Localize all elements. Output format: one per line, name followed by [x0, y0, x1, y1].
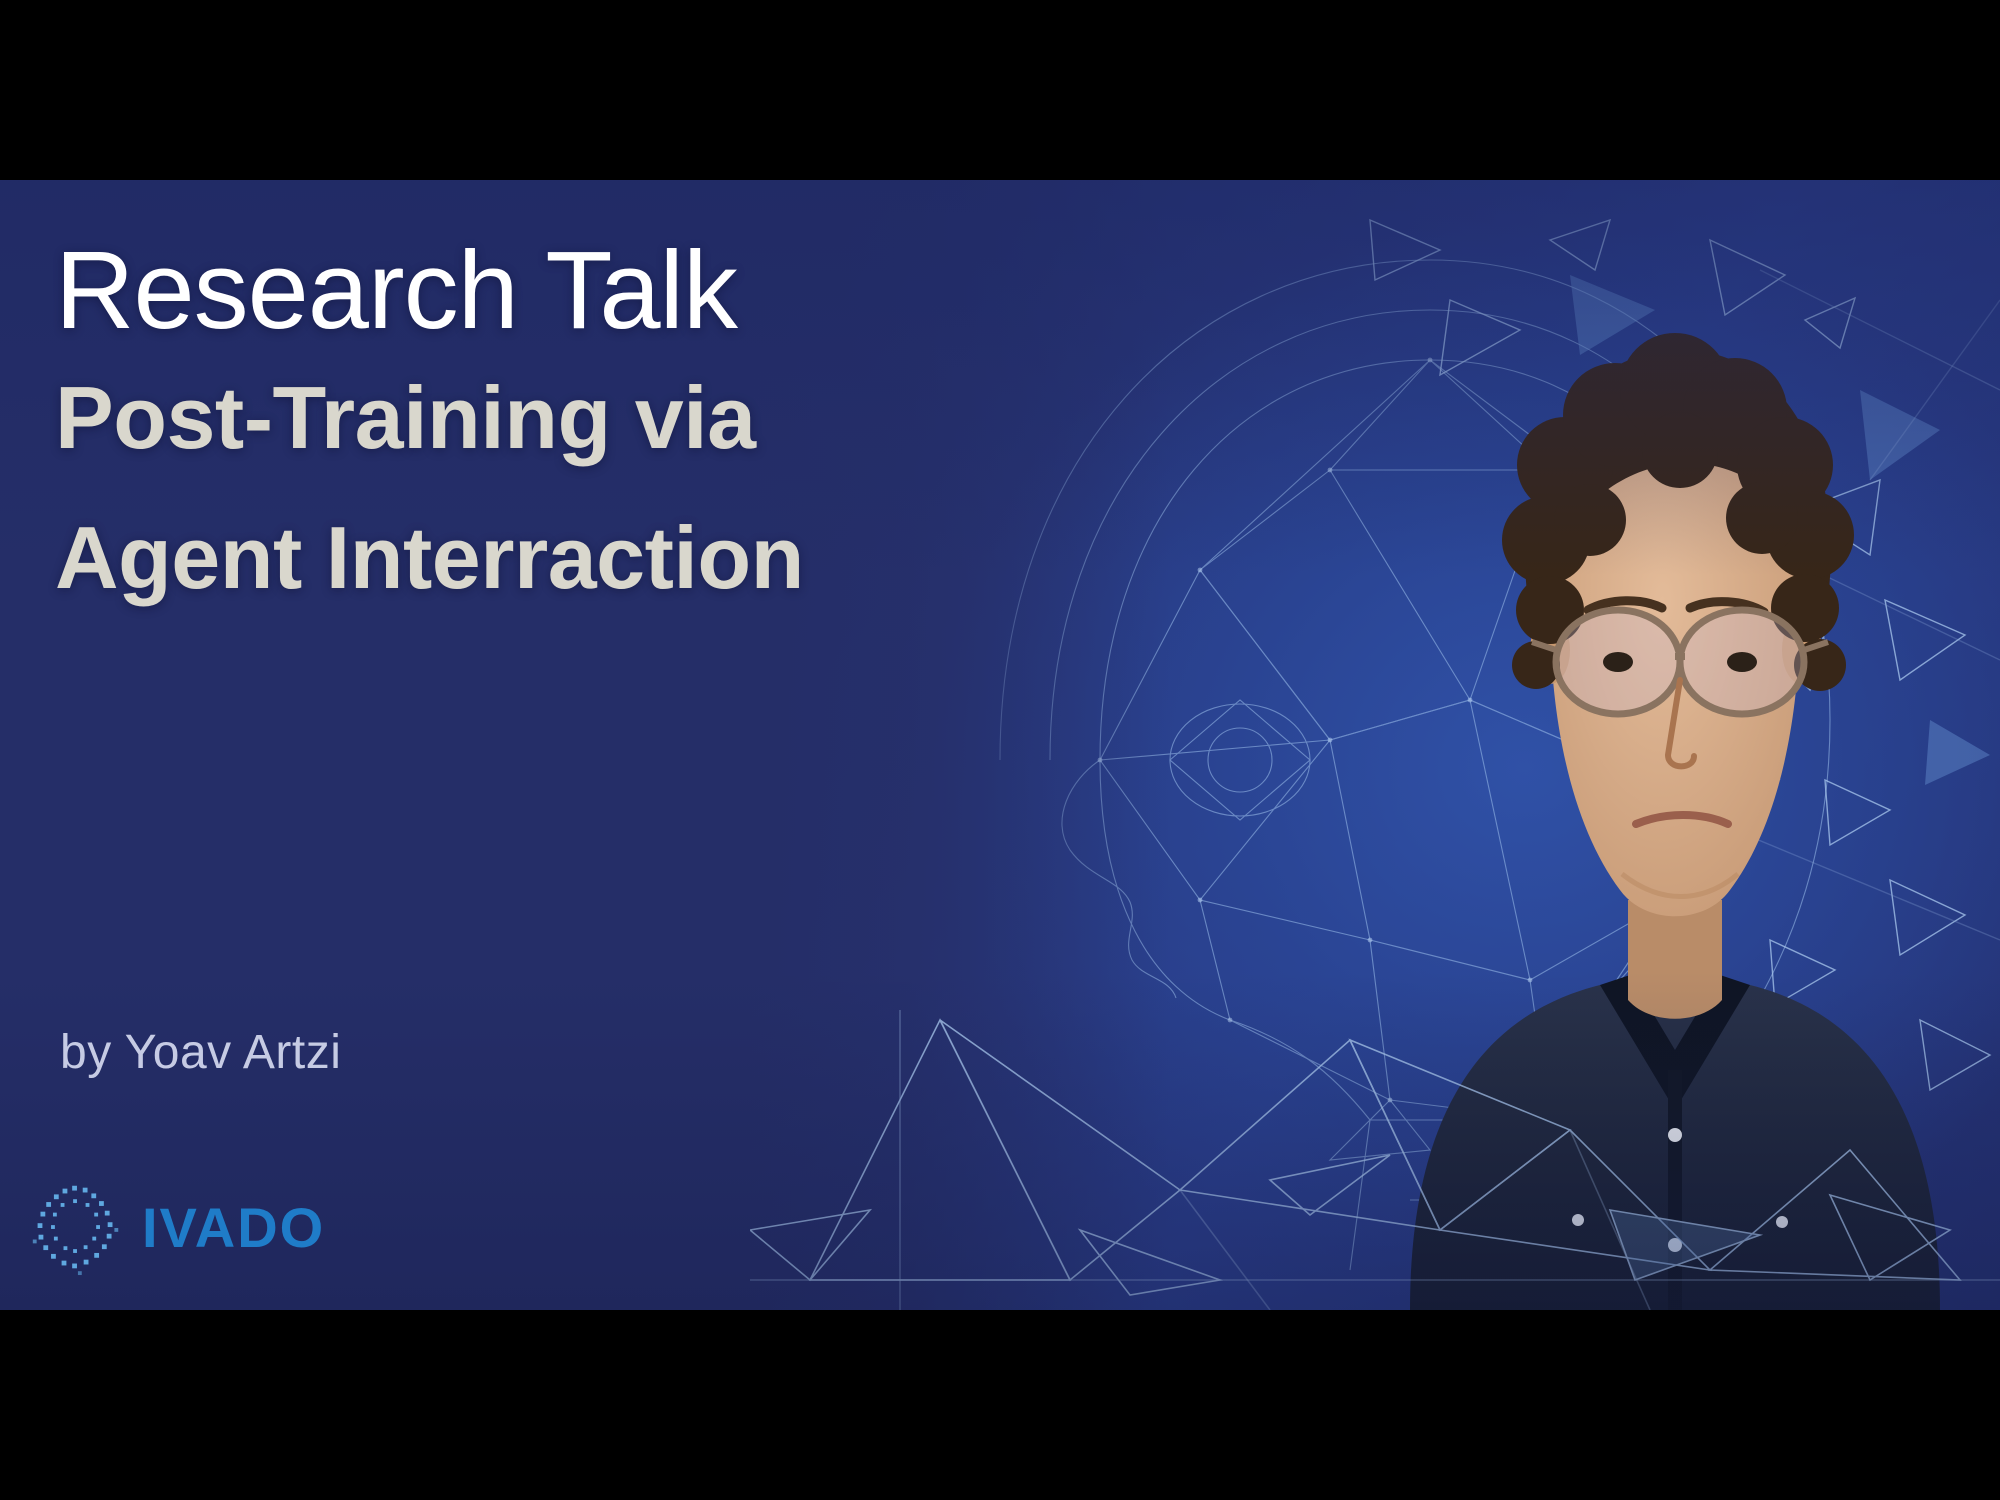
ivado-logo: IVADO [28, 1180, 325, 1276]
title-slide: Research Talk Post-Training via Agent In… [0, 180, 2000, 1310]
video-frame: Research Talk Post-Training via Agent In… [0, 0, 2000, 1500]
slide-text-block: Research Talk Post-Training via Agent In… [55, 180, 1315, 624]
page-title: Research Talk [55, 180, 1315, 351]
subtitle-line-1: Post-Training via [55, 351, 1315, 485]
particle-circle-icon [28, 1180, 124, 1276]
speaker-portrait [1350, 210, 2000, 1310]
letterbox-bottom-bar [0, 1310, 2000, 1500]
speaker-byline: by Yoav Artzi [60, 1025, 341, 1080]
ivado-wordmark: IVADO [142, 1200, 325, 1256]
letterbox-top-bar [0, 0, 2000, 180]
subtitle-line-2: Agent Interraction [55, 491, 1315, 625]
